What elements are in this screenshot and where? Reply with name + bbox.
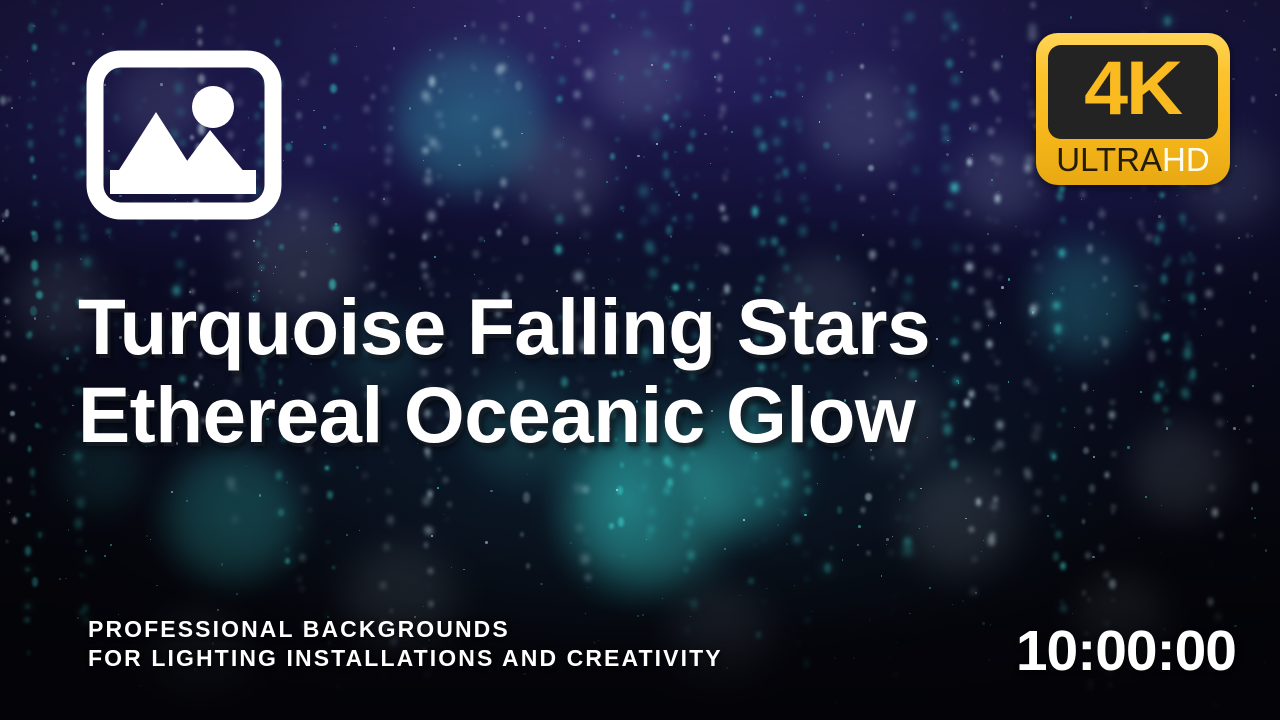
video-title: Turquoise Falling Stars Ethereal Oceanic…: [78, 283, 1078, 459]
image-placeholder-icon: [86, 50, 282, 220]
badge-4k-inner: 4K: [1048, 45, 1218, 139]
badge-resolution-label: 4K: [1085, 51, 1182, 127]
tagline-line-1: PROFESSIONAL BACKGROUNDS: [88, 615, 723, 644]
badge-4k-ultrahd: 4K ULTRAHD: [1036, 33, 1230, 185]
duration-timer: 10:00:00: [1016, 619, 1236, 683]
title-line-2: Ethereal Oceanic Glow: [78, 371, 1068, 459]
title-line-1: Turquoise Falling Stars: [78, 283, 1068, 371]
badge-ultrahd-label: ULTRAHD: [1056, 137, 1209, 183]
badge-hd-text: HD: [1162, 141, 1210, 179]
video-thumbnail: 4K ULTRAHD Turquoise Falling Stars Ether…: [0, 0, 1280, 720]
tagline: PROFESSIONAL BACKGROUNDS FOR LIGHTING IN…: [88, 615, 723, 673]
tagline-line-2: FOR LIGHTING INSTALLATIONS AND CREATIVIT…: [88, 644, 723, 673]
badge-ultra-text: ULTRA: [1056, 141, 1162, 179]
